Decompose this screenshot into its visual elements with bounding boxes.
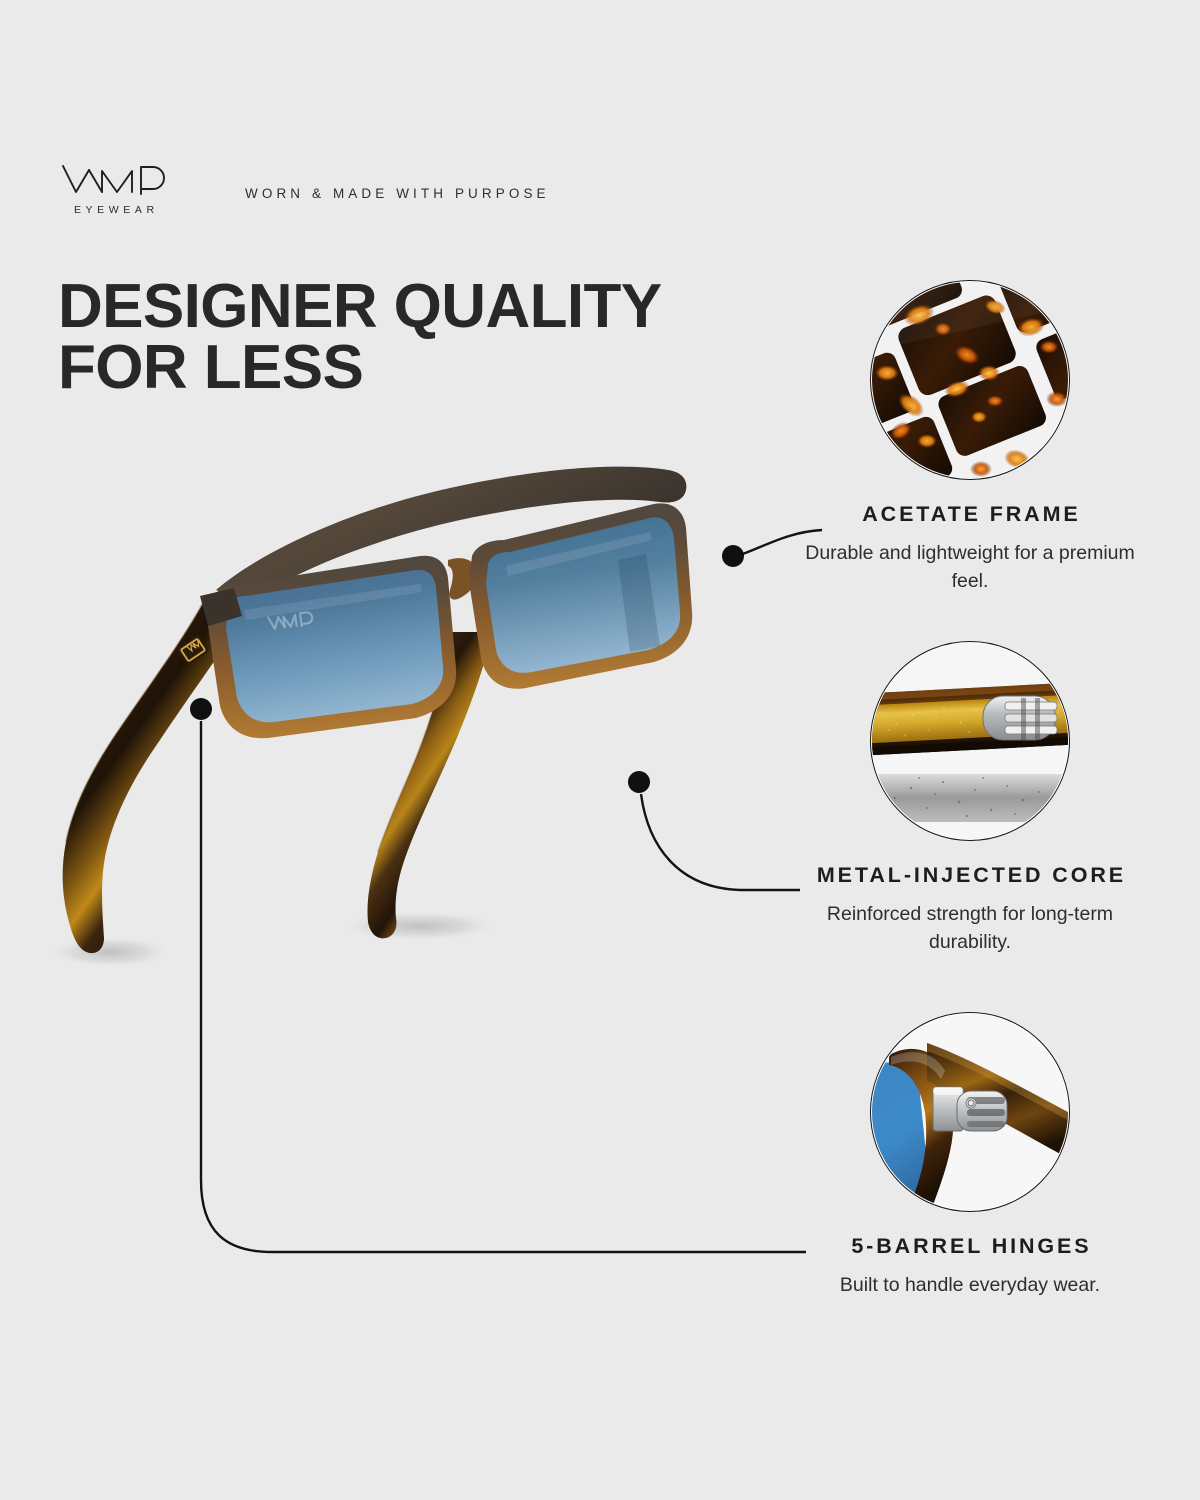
- page-headline: DESIGNER QUALITY FOR LESS: [58, 276, 718, 399]
- barrel-hinge: [933, 1087, 1007, 1131]
- feature-title: 5-BARREL HINGES: [770, 1234, 1170, 1259]
- feature-description: Reinforced strength for long-term durabi…: [795, 901, 1145, 956]
- feature-barrel-hinges: 5-BARREL HINGES Built to handle everyday…: [770, 1012, 1170, 1300]
- feature-title: METAL-INJECTED CORE: [770, 863, 1170, 888]
- product-photo: [20, 440, 720, 1000]
- metal-core-temple-photo: [870, 641, 1070, 841]
- infographic-page: EYEWEAR WORN & MADE WITH PURPOSE DESIGNE…: [0, 0, 1200, 1500]
- brand-tagline: WORN & MADE WITH PURPOSE: [245, 186, 550, 201]
- brand-logo-subtitle: EYEWEAR: [69, 204, 158, 216]
- product-shadow: [48, 936, 172, 968]
- feature-metal-core: METAL-INJECTED CORE Reinforced strength …: [770, 641, 1170, 956]
- acetate-sheets-photo: [870, 280, 1070, 480]
- brand-logo: EYEWEAR: [58, 163, 170, 216]
- wmp-logo-icon: [61, 163, 167, 197]
- feature-title: ACETATE FRAME: [770, 502, 1170, 527]
- feature-description: Built to handle everyday wear.: [790, 1272, 1150, 1300]
- brand-header: EYEWEAR WORN & MADE WITH PURPOSE: [58, 163, 550, 216]
- feature-description: Durable and lightweight for a premium fe…: [805, 540, 1135, 595]
- connector-dot: [722, 545, 744, 567]
- feature-acetate-frame: ACETATE FRAME Durable and lightweight fo…: [770, 280, 1170, 595]
- hinge-plate: [983, 696, 1057, 740]
- product-shadow: [340, 911, 500, 941]
- barrel-hinge-closeup-photo: [870, 1012, 1070, 1212]
